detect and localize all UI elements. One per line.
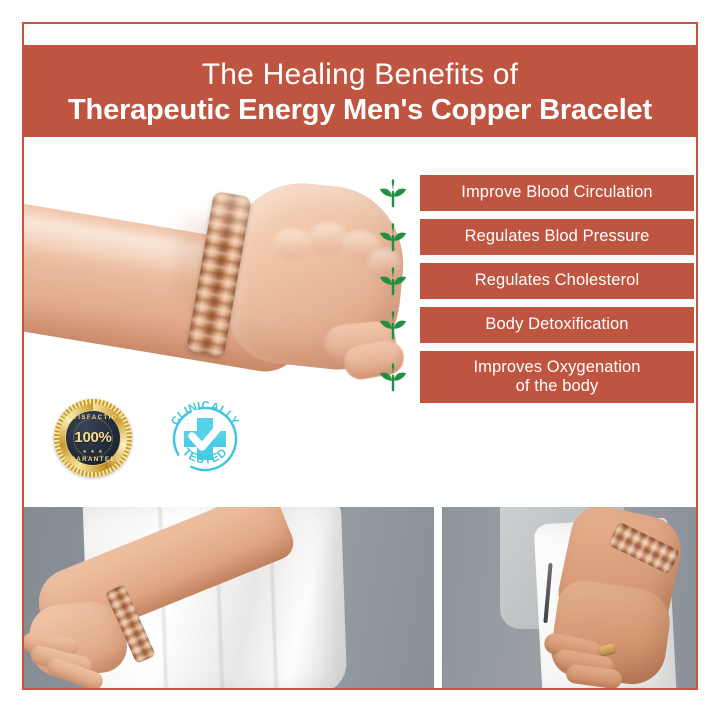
leaf-sprout-icon — [376, 220, 410, 254]
clinically-tested-badge: CLINICALLY TESTED — [164, 399, 246, 477]
benefit-label: Regulates Cholesterol — [420, 263, 694, 299]
header-banner: The Healing Benefits of Therapeutic Ener… — [22, 45, 698, 137]
benefit-item: Improve Blood Circulation — [376, 175, 694, 211]
benefit-label: Body Detoxification — [420, 307, 694, 343]
benefit-label: Regulates Blod Pressure — [420, 219, 694, 255]
benefit-item: Body Detoxification — [376, 307, 694, 343]
page-title-line-2: Therapeutic Energy Men's Copper Bracelet — [68, 94, 652, 126]
seal-stars: ★ ★ ★ — [54, 449, 132, 455]
seal-top-label: SATISFACTION — [54, 414, 132, 421]
leaf-sprout-icon — [376, 308, 410, 342]
benefit-label: Improve Blood Circulation — [420, 175, 694, 211]
knuckle — [272, 229, 312, 259]
infographic-page: Improve Blood Circulation Regulates Blod… — [0, 0, 720, 720]
woman-arm-copper-bracelet-photo — [24, 507, 434, 688]
page-title-line-1: The Healing Benefits of — [202, 58, 518, 92]
forearm-with-copper-bracelet-photo — [24, 137, 424, 437]
bottom-photo-strip — [24, 507, 696, 688]
benefit-item: Improves Oxygenation of the body — [376, 351, 694, 403]
seal-percent-label: 100% — [54, 429, 132, 446]
benefit-item: Regulates Cholesterol — [376, 263, 694, 299]
benefit-label: Improves Oxygenation of the body — [420, 351, 694, 403]
leaf-sprout-icon — [376, 264, 410, 298]
main-content-section: Improve Blood Circulation Regulates Blod… — [24, 137, 696, 505]
trust-badges: SATISFACTION 100% ★ ★ ★ GUARANTEED — [54, 399, 246, 477]
leaf-sprout-icon — [376, 360, 410, 394]
seal-bottom-label: GUARANTEED — [54, 456, 132, 463]
man-hand-copper-bracelet-photo — [442, 507, 696, 688]
satisfaction-guaranteed-badge: SATISFACTION 100% ★ ★ ★ GUARANTEED — [54, 399, 132, 477]
benefits-list: Improve Blood Circulation Regulates Blod… — [376, 175, 694, 403]
leaf-sprout-icon — [376, 176, 410, 210]
benefit-item: Regulates Blod Pressure — [376, 219, 694, 255]
photo-divider — [434, 507, 442, 688]
